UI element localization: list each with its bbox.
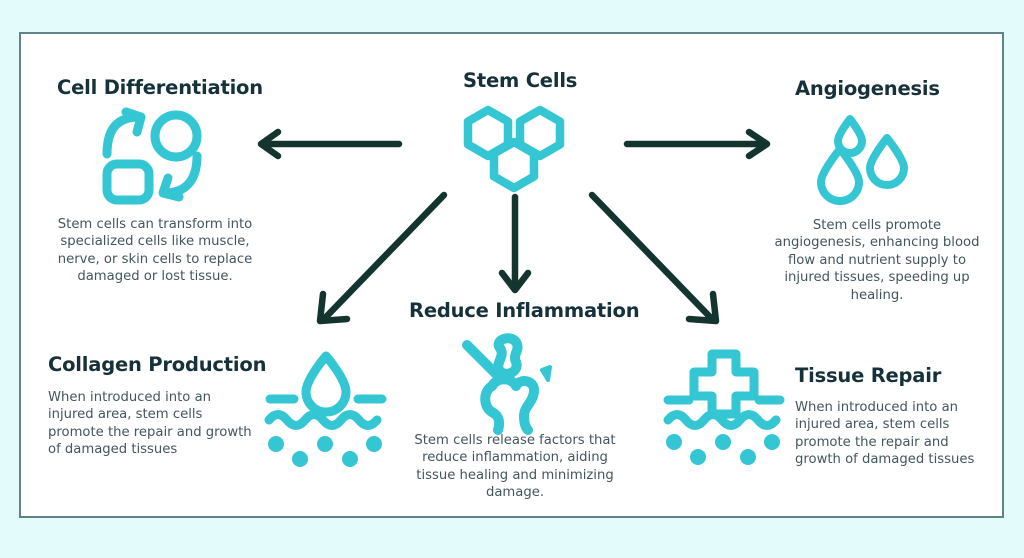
arrow-to-reduce-inflammation xyxy=(495,193,535,296)
angiogenesis-body: Stem cells promote angiogenesis, enhanci… xyxy=(769,217,985,304)
tissue-repair-title: Tissue Repair xyxy=(795,366,941,386)
inflamed-joint-icon xyxy=(458,334,566,436)
cell-differentiation-title: Cell Differentiation xyxy=(57,78,263,98)
tissue-repair-body: When introduced into an injured area, st… xyxy=(795,399,987,469)
arrow-to-angiogenesis xyxy=(622,126,774,162)
droplet-over-skin-layers-icon xyxy=(264,352,388,464)
infographic-canvas: Stem Cells xyxy=(0,0,1024,558)
center-title: Stem Cells xyxy=(463,71,577,91)
reduce-inflammation-title: Reduce Inflammation xyxy=(409,301,639,321)
collagen-production-title: Collagen Production xyxy=(48,355,266,375)
arrow-to-cell-differentiation xyxy=(254,126,404,162)
cycle-arrows-circle-square-icon xyxy=(99,107,207,203)
medical-cross-over-skin-layers-icon xyxy=(663,348,785,462)
cell-differentiation-body: Stem cells can transform into specialize… xyxy=(42,216,268,286)
three-blood-droplets-icon xyxy=(812,108,918,198)
honeycomb-hexagons-icon xyxy=(461,104,567,196)
reduce-inflammation-body: Stem cells release factors that reduce i… xyxy=(412,432,618,502)
collagen-production-body: When introduced into an injured area, st… xyxy=(48,389,254,459)
angiogenesis-title: Angiogenesis xyxy=(795,79,940,99)
